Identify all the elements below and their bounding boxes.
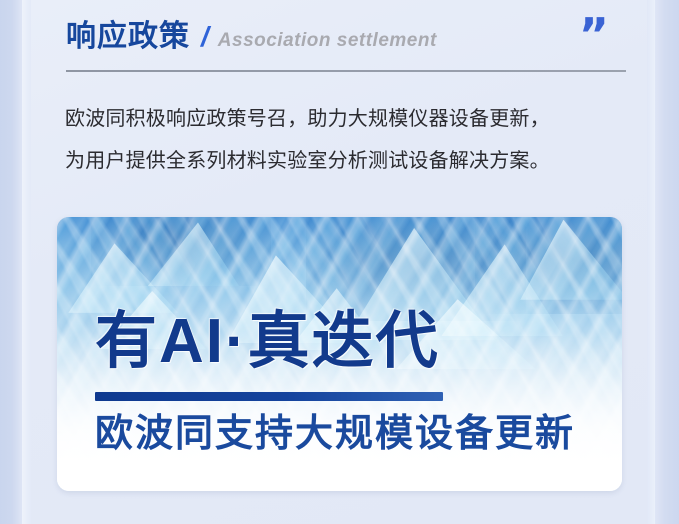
banner-underline-bar — [95, 392, 443, 401]
body-line-2: 为用户提供全系列材料实验室分析测试设备解决方案。 — [65, 140, 635, 182]
page-gutter-left-inner — [22, 0, 31, 524]
banner-text-group: 有AI·真迭代 欧波同支持大规模设备更新 — [57, 217, 622, 491]
title-separator: / — [201, 23, 209, 51]
page-title: 响应政策 — [66, 22, 190, 52]
page-gutter-left — [0, 0, 22, 524]
body-line-1: 欧波同积极响应政策号召，助力大规模仪器设备更新， — [65, 98, 635, 140]
body-paragraph: 欧波同积极响应政策号召，助力大规模仪器设备更新， 为用户提供全系列材料实验室分析… — [65, 98, 635, 182]
page-gutter-right — [655, 0, 679, 524]
page-subtitle-en: Association settlement — [218, 31, 437, 50]
banner-subline: 欧波同支持大规模设备更新 — [95, 411, 575, 459]
page-root: 响应政策 / Association settlement ” 欧波同积极响应政… — [0, 0, 679, 524]
content-card: 响应政策 / Association settlement ” 欧波同积极响应政… — [31, 0, 647, 524]
page-gutter-right-inner — [647, 0, 655, 524]
banner-headline: 有AI·真迭代 — [95, 311, 440, 373]
quote-mark-icon: ” — [579, 12, 609, 58]
section-header: 响应政策 / Association settlement — [66, 22, 626, 68]
header-divider — [66, 70, 626, 72]
promo-banner[interactable]: 有AI·真迭代 欧波同支持大规模设备更新 — [57, 217, 622, 491]
